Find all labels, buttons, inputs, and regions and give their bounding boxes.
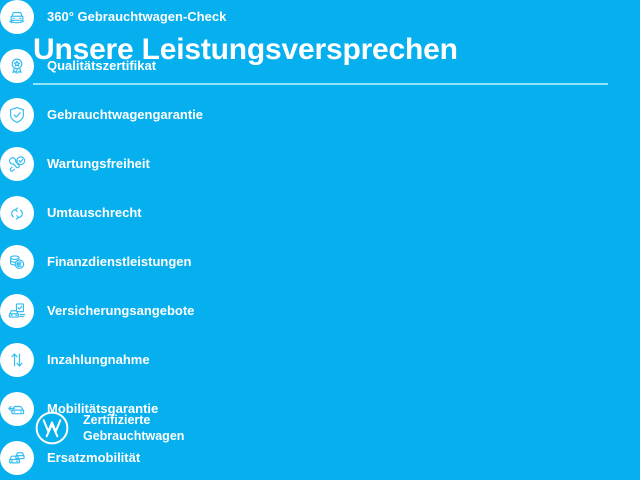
- coins-euro-icon: [0, 245, 34, 279]
- feature-item-exchange-right[interactable]: Umtauschrecht: [0, 196, 300, 230]
- wrench-check-icon: [0, 147, 34, 181]
- car-360-check-icon: [0, 0, 34, 34]
- feature-label: Finanzdienstleistungen: [47, 254, 191, 270]
- feature-item-insurance-offers[interactable]: Versicherungsangebote: [0, 294, 275, 328]
- feature-label: Versicherungsangebote: [47, 303, 194, 319]
- feature-label: Inzahlungnahme: [47, 352, 150, 368]
- brand-text: Zertifizierte Gebrauchtwagen: [83, 412, 184, 444]
- shield-check-icon: [0, 98, 34, 132]
- brand-footer: Zertifizierte Gebrauchtwagen: [33, 409, 184, 447]
- feature-item-warranty[interactable]: Gebrauchtwagengarantie: [0, 98, 300, 132]
- promo-panel: Unsere Leistungsversprechen 360° Gebrauc…: [0, 0, 640, 480]
- feature-label: Wartungsfreiheit: [47, 156, 150, 172]
- car-document-check-icon: [0, 294, 34, 328]
- feature-item-quality-certificate[interactable]: Qualitätszertifikat: [0, 49, 300, 83]
- two-cars-icon: [0, 441, 34, 475]
- brand-line-1: Zertifizierte: [83, 412, 184, 428]
- quality-seal-rosette-icon: [0, 49, 34, 83]
- feature-item-financial-services[interactable]: Finanzdienstleistungen: [0, 245, 275, 279]
- car-arrow-icon: [0, 392, 34, 426]
- feature-label: Umtauschrecht: [47, 205, 142, 221]
- feature-item-360-check[interactable]: 360° Gebrauchtwagen-Check: [0, 0, 300, 34]
- header-divider: [33, 83, 608, 85]
- feature-label: 360° Gebrauchtwagen-Check: [47, 9, 226, 25]
- feature-item-trade-in[interactable]: Inzahlungnahme: [0, 343, 275, 377]
- arrows-up-down-icon: [0, 343, 34, 377]
- feature-label: Ersatzmobilität: [47, 450, 140, 466]
- volkswagen-logo-icon: [33, 409, 71, 447]
- exchange-arrows-icon: [0, 196, 34, 230]
- feature-label: Qualitätszertifikat: [47, 58, 156, 74]
- feature-item-maintenance-free[interactable]: Wartungsfreiheit: [0, 147, 300, 181]
- brand-line-2: Gebrauchtwagen: [83, 428, 184, 444]
- feature-label: Gebrauchtwagengarantie: [47, 107, 203, 123]
